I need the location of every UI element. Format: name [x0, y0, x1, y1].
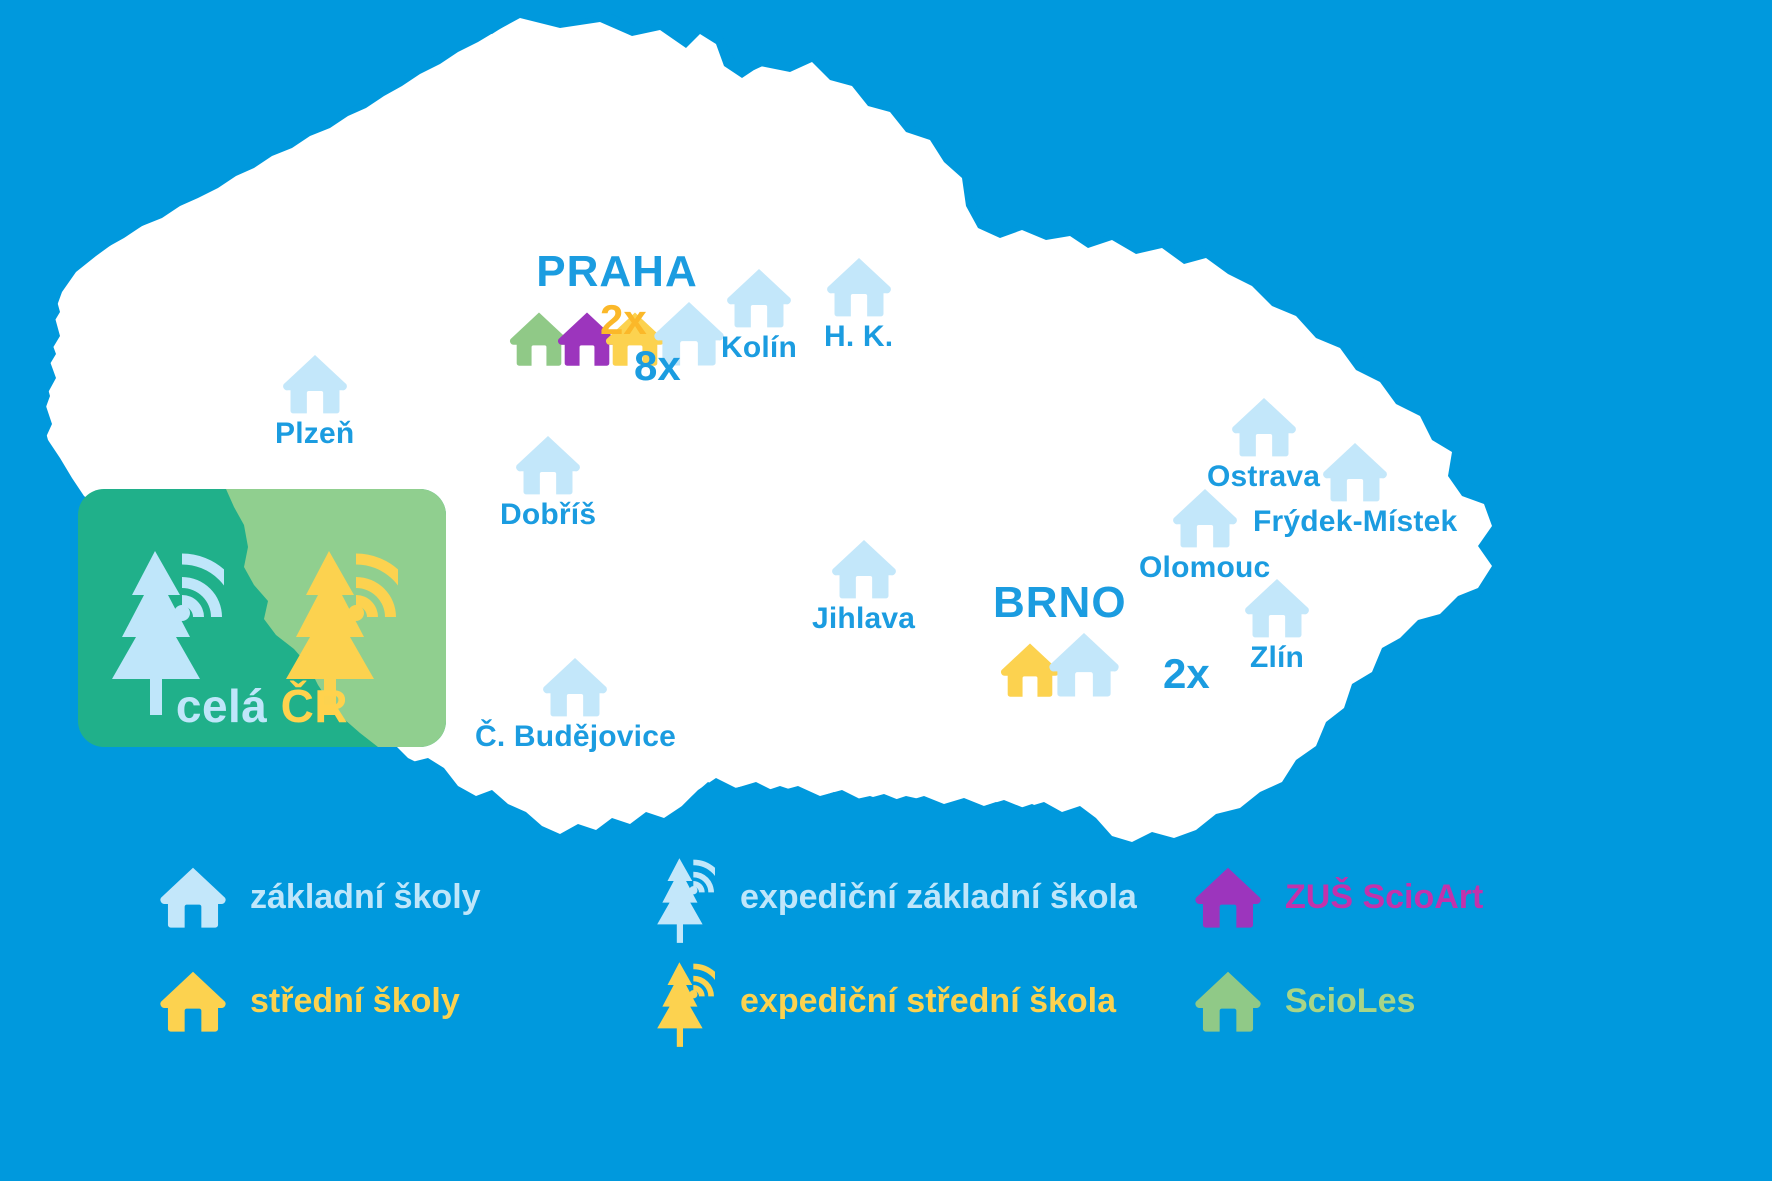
city-label-jihlava: Jihlava	[812, 602, 915, 636]
city-label-ceske-budejovice: Č. Budějovice	[475, 720, 676, 754]
count-badge-praha-0: 2x	[600, 296, 647, 344]
house-icon	[514, 433, 582, 496]
city-label-hk: H. K.	[824, 320, 893, 354]
city-label-frydek-mistek: Frýdek-Místek	[1253, 505, 1457, 539]
marker-icons-frydek-mistek	[1321, 440, 1389, 503]
legend-item-secondary-schools[interactable]: střední školy	[150, 949, 481, 1053]
house-icon-secondary	[150, 969, 236, 1033]
marker-icons-kolin	[725, 266, 793, 329]
house-icon-primary[interactable]	[1321, 440, 1389, 503]
map-marker-ceske-budejovice[interactable]: Č. Budějovice	[475, 655, 676, 754]
legend-label-zus-scioart: ZUŠ ScioArt	[1285, 878, 1483, 917]
house-icon-primary[interactable]	[1243, 576, 1311, 639]
house-icon-primary[interactable]	[541, 655, 609, 718]
legend-label-primary-schools: základní školy	[250, 878, 481, 917]
marker-icons-plzen	[281, 352, 349, 415]
city-label-plzen: Plzeň	[275, 417, 354, 451]
house-icon	[725, 266, 793, 329]
house-icon-primary[interactable]	[825, 255, 893, 318]
map-marker-olomouc[interactable]: Olomouc	[1139, 486, 1270, 585]
tree-wifi-icon	[651, 851, 715, 944]
city-label-kolin: Kolín	[721, 331, 797, 365]
house-icon-primary[interactable]	[1047, 630, 1121, 698]
tree-wifi-icon-primary	[640, 851, 726, 944]
legend-column-expedition: expediční základní školaexpediční středn…	[640, 845, 1137, 1053]
map-marker-jihlava[interactable]: Jihlava	[812, 537, 915, 636]
house-icon-primary[interactable]	[281, 352, 349, 415]
count-badge-brno-0: 2x	[1163, 650, 1210, 698]
house-icon	[1193, 969, 1263, 1033]
map-marker-kolin[interactable]: Kolín	[721, 266, 797, 365]
house-icon	[825, 255, 893, 318]
legend-item-scioles[interactable]: ScioLes	[1185, 949, 1483, 1053]
city-label-brno: BRNO	[993, 578, 1127, 628]
marker-icons-zlin	[1243, 576, 1311, 639]
badge-label-part2: ČR	[281, 680, 348, 732]
house-icon	[158, 865, 228, 929]
count-badge-praha-1: 8x	[634, 342, 681, 390]
house-icon-primary[interactable]	[830, 537, 898, 600]
house-icon-primary	[150, 865, 236, 929]
house-icon	[1321, 440, 1389, 503]
house-icon	[541, 655, 609, 718]
house-icon	[158, 969, 228, 1033]
house-icon	[830, 537, 898, 600]
legend-column-schools: základní školystřední školy	[150, 845, 481, 1053]
house-icon-primary[interactable]	[725, 266, 793, 329]
house-icon	[281, 352, 349, 415]
legend-item-primary-schools[interactable]: základní školy	[150, 845, 481, 949]
house-icon	[1171, 486, 1239, 549]
marker-icons-jihlava	[830, 537, 898, 600]
legend-label-expedition-primary: expediční základní škola	[740, 878, 1137, 917]
legend-label-secondary-schools: střední školy	[250, 982, 460, 1021]
marker-icons-olomouc	[1171, 486, 1239, 549]
marker-icons-hk	[825, 255, 893, 318]
badge-content: celá ČR	[78, 489, 446, 747]
house-icon	[1193, 865, 1263, 929]
tree-wifi-icon	[651, 955, 715, 1048]
infographic-map-canvas: celá ČR PRAHA2x8xKolínH. K.PlzeňDobříšOs…	[0, 0, 1772, 1181]
city-label-dobris: Dobříš	[500, 498, 596, 532]
city-label-praha: PRAHA	[536, 247, 697, 297]
legend-item-expedition-primary[interactable]: expediční základní škola	[640, 845, 1137, 949]
legend-label-expedition-secondary: expediční střední škola	[740, 982, 1116, 1021]
house-icon-primary[interactable]	[514, 433, 582, 496]
marker-icons-ceske-budejovice	[541, 655, 609, 718]
marker-icons-brno	[999, 630, 1121, 698]
house-icon	[1243, 576, 1311, 639]
badge-label-part1: celá	[176, 680, 268, 732]
legend-label-scioles: ScioLes	[1285, 982, 1415, 1021]
legend-column-brands: ZUŠ ScioArtScioLes	[1185, 845, 1483, 1053]
city-label-zlin: Zlín	[1250, 641, 1304, 675]
legend-item-zus-scioart[interactable]: ZUŠ ScioArt	[1185, 845, 1483, 949]
legend: základní školystřední školy expediční zá…	[0, 845, 1772, 1181]
map-marker-brno[interactable]: BRNO	[993, 578, 1127, 698]
map-marker-frydek-mistek[interactable]: Frýdek-Místek	[1253, 440, 1457, 539]
house-icon-sciolés	[1185, 969, 1271, 1033]
map-marker-hk[interactable]: H. K.	[824, 255, 893, 354]
legend-item-expedition-secondary[interactable]: expediční střední škola	[640, 949, 1137, 1053]
marker-icons-dobris	[514, 433, 582, 496]
map-marker-plzen[interactable]: Plzeň	[275, 352, 354, 451]
tree-wifi-icon-secondary	[640, 955, 726, 1048]
house-icon-primary[interactable]	[1171, 486, 1239, 549]
house-icon	[1047, 630, 1121, 698]
cela-cr-badge: celá ČR	[78, 489, 446, 747]
map-marker-zlin[interactable]: Zlín	[1243, 576, 1311, 675]
house-icon-zus	[1185, 865, 1271, 929]
badge-label: celá ČR	[78, 679, 446, 733]
map-marker-dobris[interactable]: Dobříš	[500, 433, 596, 532]
